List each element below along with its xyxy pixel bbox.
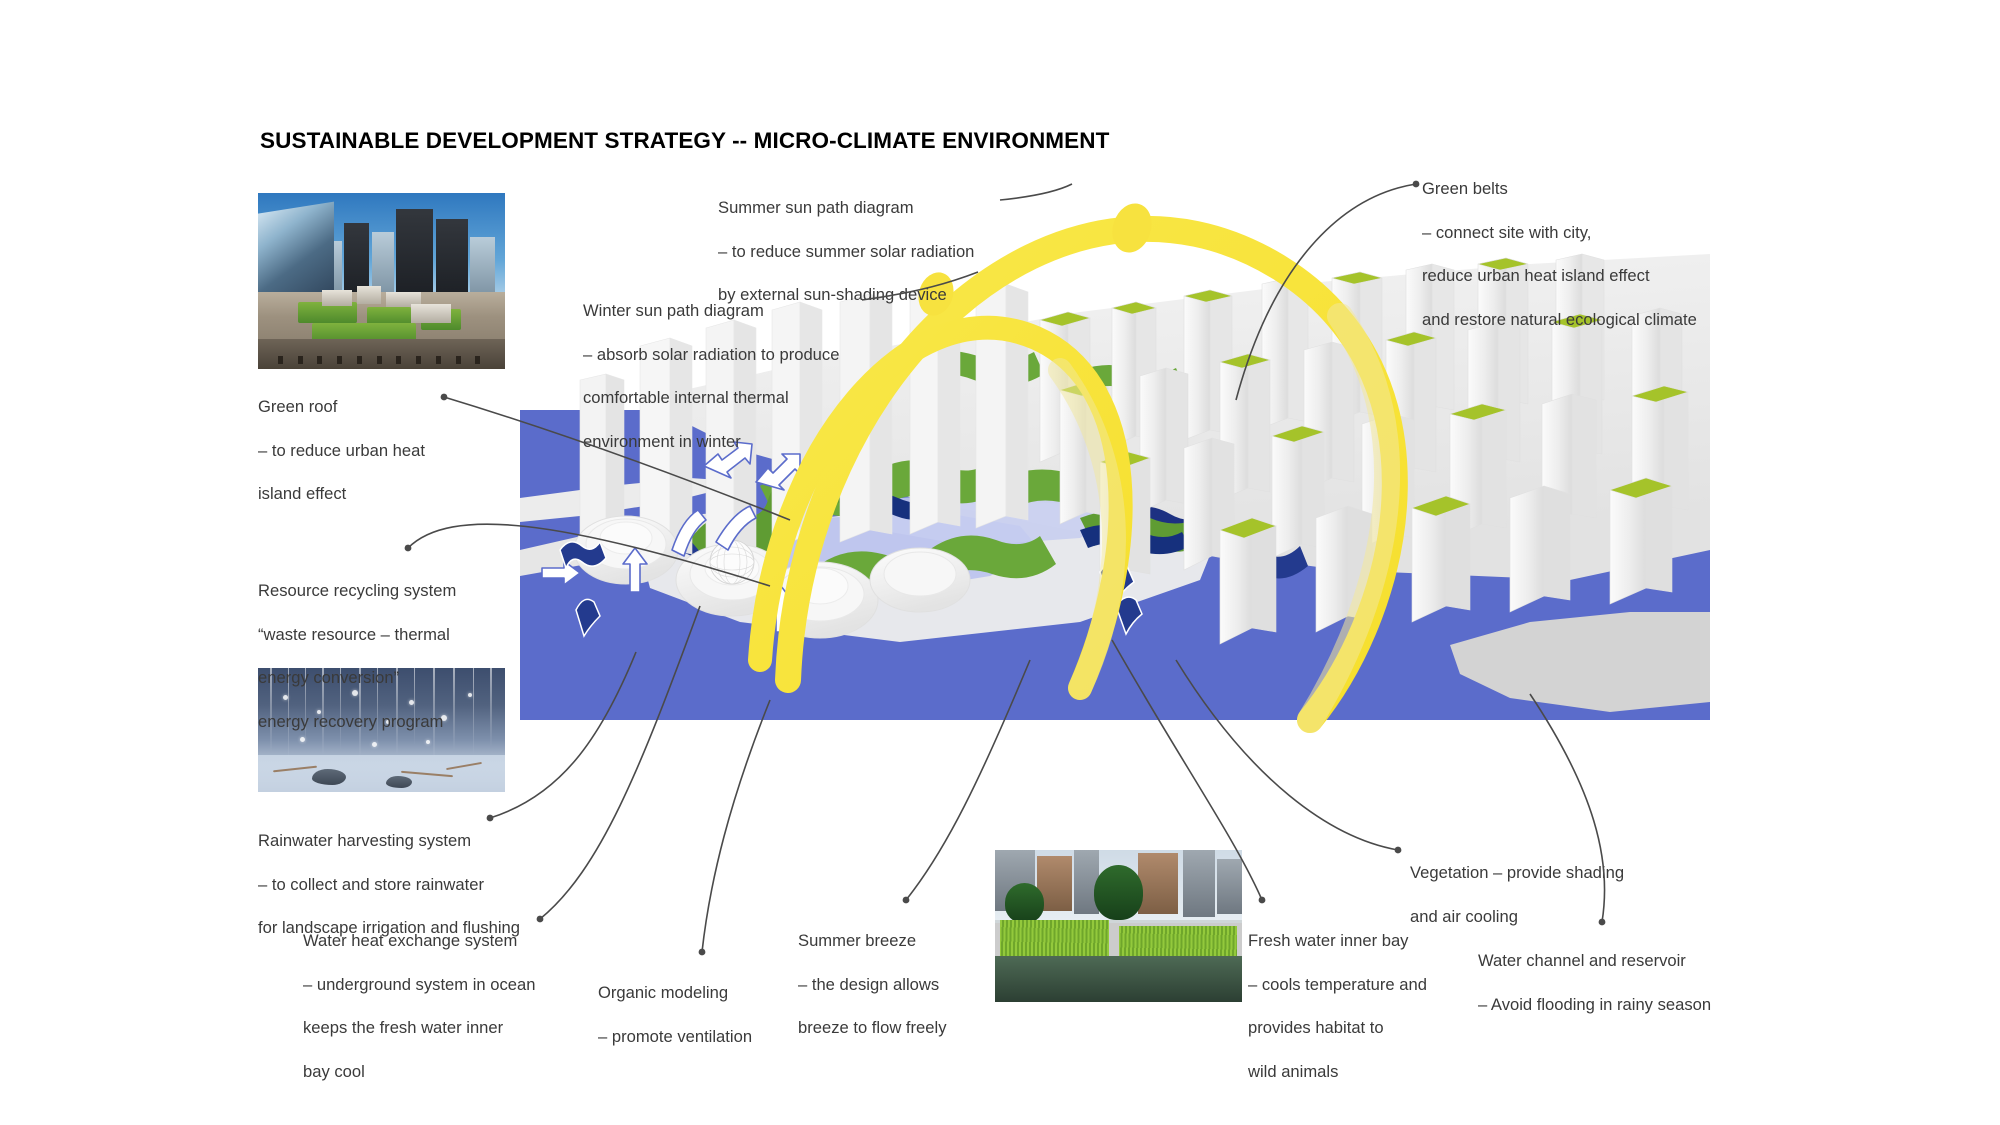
callout-vegetation: Vegetation – provide shading and air coo…	[1410, 840, 1624, 928]
callout-line: – to reduce urban heat	[258, 441, 425, 460]
diagram-canvas: SUSTAINABLE DEVELOPMENT STRATEGY -- MICR…	[0, 0, 2000, 1125]
callout-line: environment in winter	[583, 432, 741, 451]
urban-park-photo	[995, 850, 1242, 1002]
callout-heading: Green roof	[258, 396, 425, 418]
callout-line: breeze to flow freely	[798, 1018, 947, 1037]
callout-line: “waste resource – thermal	[258, 625, 450, 644]
callout-line: – cools temperature and	[1248, 975, 1427, 994]
leader-dot	[537, 916, 544, 923]
leader-dot	[1413, 181, 1420, 188]
callout-line: energy recovery program	[258, 712, 443, 731]
callout-resource-recycling: Resource recycling system “waste resourc…	[258, 558, 456, 733]
callout-heading: Organic modeling	[598, 982, 752, 1004]
callout-heading: Vegetation – provide shading	[1410, 862, 1624, 884]
callout-organic-modeling: Organic modeling – promote ventilation	[598, 960, 752, 1048]
callout-heading: Winter sun path diagram	[583, 300, 839, 322]
callout-line: – absorb solar radiation to produce	[583, 345, 839, 364]
callout-water-channel-reservoir: Water channel and reservoir – Avoid floo…	[1478, 928, 1711, 1016]
callout-line: – to reduce summer solar radiation	[718, 242, 974, 261]
callout-summer-breeze: Summer breeze – the design allows breeze…	[798, 908, 947, 1039]
callout-heading: Summer sun path diagram	[718, 197, 974, 219]
callout-line: and air cooling	[1410, 907, 1518, 926]
callout-line: – the design allows	[798, 975, 939, 994]
callout-heading: Water heat exchange system	[303, 930, 535, 952]
leader-summer-sun	[1000, 184, 1072, 200]
callout-water-heat-exchange: Water heat exchange system – underground…	[303, 908, 535, 1083]
leader-dot	[1259, 897, 1266, 904]
callout-fresh-water-inner-bay: Fresh water inner bay – cools temperatur…	[1248, 908, 1427, 1083]
callout-green-roof: Green roof – to reduce urban heat island…	[258, 374, 425, 505]
page-title: SUSTAINABLE DEVELOPMENT STRATEGY -- MICR…	[260, 128, 1109, 154]
callout-green-belts: Green belts – connect site with city, re…	[1422, 156, 1697, 331]
leader-dot	[441, 394, 448, 401]
green-roof-photo	[258, 193, 505, 369]
callout-line: comfortable internal thermal	[583, 388, 789, 407]
callout-heading: Green belts	[1422, 178, 1697, 200]
callout-line: and restore natural ecological climate	[1422, 310, 1697, 329]
sun-disc-summer	[1106, 198, 1158, 257]
callout-line: keeps the fresh water inner	[303, 1018, 503, 1037]
callout-line: bay cool	[303, 1062, 365, 1081]
callout-heading: Water channel and reservoir	[1478, 950, 1711, 972]
callout-heading: Resource recycling system	[258, 580, 456, 602]
callout-winter-sun-path: Winter sun path diagram – absorb solar r…	[583, 278, 839, 453]
callout-line: reduce urban heat island effect	[1422, 266, 1650, 285]
callout-heading: Fresh water inner bay	[1248, 930, 1427, 952]
callout-line: – connect site with city,	[1422, 223, 1591, 242]
callout-line: energy conversion”	[258, 668, 399, 687]
callout-line: – Avoid flooding in rainy season	[1478, 995, 1711, 1014]
callout-heading: Summer breeze	[798, 930, 947, 952]
callout-heading: Rainwater harvesting system	[258, 830, 520, 852]
callout-line: wild animals	[1248, 1062, 1338, 1081]
leader-dot	[1395, 847, 1402, 854]
callout-line: island effect	[258, 484, 346, 503]
callout-line: – promote ventilation	[598, 1027, 752, 1046]
leader-dot	[699, 949, 706, 956]
leader-dot	[903, 897, 910, 904]
callout-line: – underground system in ocean	[303, 975, 535, 994]
callout-line: provides habitat to	[1248, 1018, 1384, 1037]
leader-dot	[405, 545, 412, 552]
callout-line: – to collect and store rainwater	[258, 875, 484, 894]
